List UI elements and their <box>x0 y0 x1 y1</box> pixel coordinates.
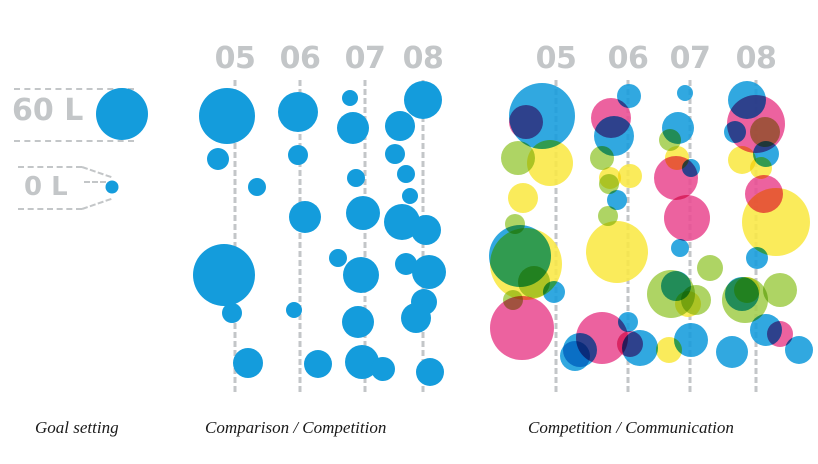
bubble-blue <box>342 90 358 106</box>
bubble-green <box>697 255 723 281</box>
bubble-green <box>505 214 525 234</box>
caption-comparison-competition: Comparison / Competition <box>205 418 386 438</box>
bubble-yellow <box>656 337 682 363</box>
bubble-yellow <box>742 188 810 256</box>
panel-goal-setting: 60 L 0 L Goal setting <box>0 0 190 464</box>
bubble-green <box>659 129 681 151</box>
caption-goal-setting: Goal setting <box>35 418 119 438</box>
legend-min-rule-stem <box>84 181 106 183</box>
bubble-layer-communication <box>480 0 818 404</box>
bubble-blue <box>289 201 321 233</box>
bubble-blue <box>677 85 693 101</box>
bubble-blue <box>329 249 347 267</box>
bubble-green <box>599 174 619 194</box>
bubble-blue <box>411 215 441 245</box>
bubble-yellow <box>750 157 772 179</box>
bubble-blue <box>401 303 431 333</box>
bubble-blue <box>404 81 442 119</box>
bubble-blue <box>248 178 266 196</box>
caption-competition-communication: Competition / Communication <box>528 418 734 438</box>
bubble-green <box>750 117 780 147</box>
bubble-blue <box>347 169 365 187</box>
legend-min-rule-top <box>18 166 82 168</box>
legend-max-label: 60 L <box>12 96 83 126</box>
bubble-green <box>722 277 768 323</box>
infographic-canvas: 60 L 0 L Goal setting 05060708 Compariso… <box>0 0 818 464</box>
bubble-blue <box>207 148 229 170</box>
legend-min-taper-bottom <box>82 198 112 210</box>
legend-max-rule-bottom <box>14 140 134 142</box>
bubble-yellow <box>618 164 642 188</box>
bubble-yellow <box>586 221 648 283</box>
bubble-blue <box>385 144 405 164</box>
bubble-blue <box>288 145 308 165</box>
panel-comparison-competition: 05060708 Comparison / Competition <box>190 0 480 464</box>
bubble-pink <box>664 195 710 241</box>
bubble-blue <box>278 92 318 132</box>
bubble-pink <box>591 98 631 138</box>
bubble-yellow <box>508 183 538 213</box>
bubble-blue <box>416 358 444 386</box>
legend-min-rule-bottom <box>18 208 82 210</box>
bubble-pink <box>767 321 793 347</box>
bubble-blue <box>412 255 446 289</box>
bubble-green <box>681 285 711 315</box>
bubble-blue <box>342 306 374 338</box>
bubble-green <box>763 273 797 307</box>
bubble-layer-comparison <box>190 0 480 404</box>
bubble-blue <box>402 188 418 204</box>
bubble-green <box>501 141 535 175</box>
comparison-plot-area: 05060708 <box>190 0 480 404</box>
bubble-blue <box>193 244 255 306</box>
legend-min-label: 0 L <box>24 174 68 200</box>
panel-competition-communication: 05060708 Competition / Communication <box>480 0 818 464</box>
bubble-pink <box>617 331 643 357</box>
bubble-blue <box>385 111 415 141</box>
legend-min-bubble <box>106 181 119 194</box>
legend-plot-area: 60 L 0 L <box>0 0 190 404</box>
bubble-green <box>590 146 614 170</box>
bubble-blue <box>346 196 380 230</box>
bubble-blue <box>343 257 379 293</box>
legend-max-bubble <box>96 88 148 140</box>
bubble-blue <box>716 336 748 368</box>
bubble-blue <box>397 165 415 183</box>
legend-min-taper-top <box>82 166 112 178</box>
bubble-green <box>598 206 618 226</box>
bubble-pink <box>490 296 554 360</box>
bubble-blue <box>337 112 369 144</box>
bubble-blue <box>233 348 263 378</box>
bubble-pink <box>509 105 543 139</box>
bubble-blue <box>199 88 255 144</box>
bubble-blue <box>222 303 242 323</box>
bubble-green <box>503 290 523 310</box>
bubble-blue <box>671 239 689 257</box>
bubble-blue <box>371 357 395 381</box>
communication-plot-area: 05060708 <box>480 0 818 404</box>
bubble-blue <box>286 302 302 318</box>
bubble-green <box>518 266 550 298</box>
bubble-blue <box>304 350 332 378</box>
